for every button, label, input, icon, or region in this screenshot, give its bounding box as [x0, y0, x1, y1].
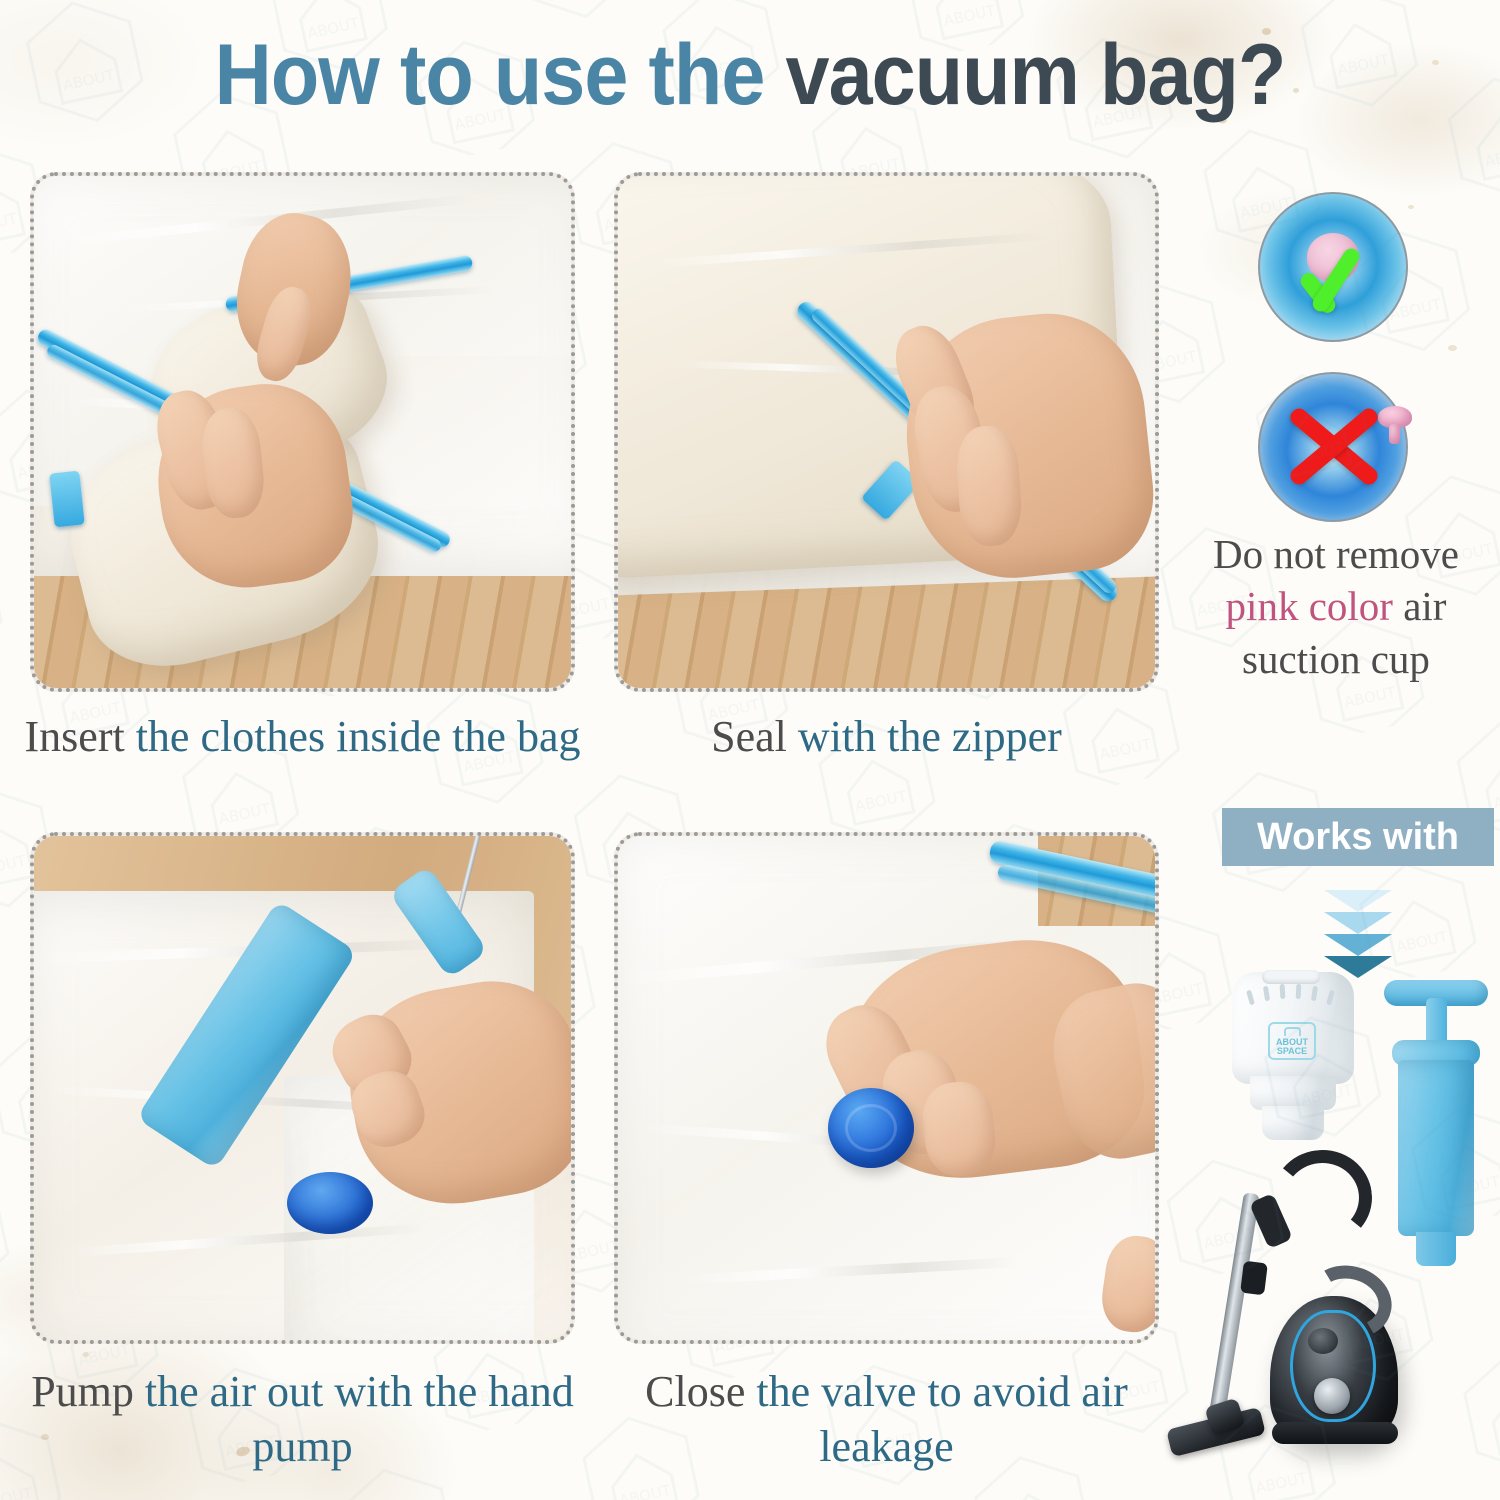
valve-cap-icon — [828, 1088, 914, 1168]
step-2-photo-panel — [614, 172, 1159, 692]
logo-line-2: SPACE — [1277, 1047, 1307, 1056]
step-1-caption: Insert the clothes inside the bag — [20, 710, 585, 765]
step-4-photo — [618, 836, 1155, 1340]
page-title-blue: How to use the — [215, 27, 765, 123]
warning-pink-text: pink color — [1226, 583, 1393, 629]
suction-cup-warning-note: Do not remove pink color air suction cup — [1176, 528, 1496, 685]
works-with-label: Works with — [1257, 816, 1459, 859]
warning-line-2-tail: air — [1393, 583, 1447, 629]
chevron-down-icon — [1324, 934, 1392, 956]
step-3-photo — [34, 836, 571, 1340]
page-title: How to use the vacuum bag? — [60, 26, 1440, 125]
step-3-caption: Pump the air out with the hand pump — [20, 1365, 585, 1474]
step-1-caption-lead: Insert — [25, 712, 125, 761]
valve-with-suction-cup-ok-image — [1258, 192, 1408, 342]
step-4-caption-lead: Close — [645, 1367, 745, 1416]
chevron-down-icon — [1324, 890, 1392, 912]
step-2-photo — [618, 176, 1155, 688]
step-4-photo-panel — [614, 832, 1159, 1344]
step-1-caption-rest: the clothes inside the bag — [125, 712, 581, 761]
step-2-caption-lead: Seal — [711, 712, 787, 761]
step-2-caption: Seal with the zipper — [604, 710, 1169, 765]
step-4-caption: Close the valve to avoid air leakage — [604, 1365, 1169, 1474]
warning-line-1: Do not remove — [1213, 531, 1459, 577]
chevron-down-icon — [1324, 912, 1392, 934]
step-1-photo — [34, 176, 571, 688]
step-4-caption-rest: the valve to avoid air leakage — [745, 1367, 1127, 1471]
page-title-dark: vacuum bag? — [764, 27, 1285, 123]
about-space-logo: ABOUT SPACE — [1268, 1022, 1316, 1060]
canister-vacuum-cleaner-image — [1160, 1150, 1500, 1495]
vacuum-adapter-nozzle-image: ABOUT SPACE — [1228, 968, 1358, 1143]
step-2-caption-rest: with the zipper — [787, 712, 1062, 761]
step-1-photo-panel — [30, 172, 575, 692]
warning-line-3: suction cup — [1242, 636, 1430, 682]
step-3-photo-panel — [30, 832, 575, 1344]
step-3-caption-rest: the air out with the hand pump — [134, 1367, 574, 1471]
detached-pink-suction-cup-stem — [1389, 424, 1400, 444]
step-3-caption-lead: Pump — [31, 1367, 134, 1416]
works-with-badge: Works with — [1222, 808, 1494, 866]
